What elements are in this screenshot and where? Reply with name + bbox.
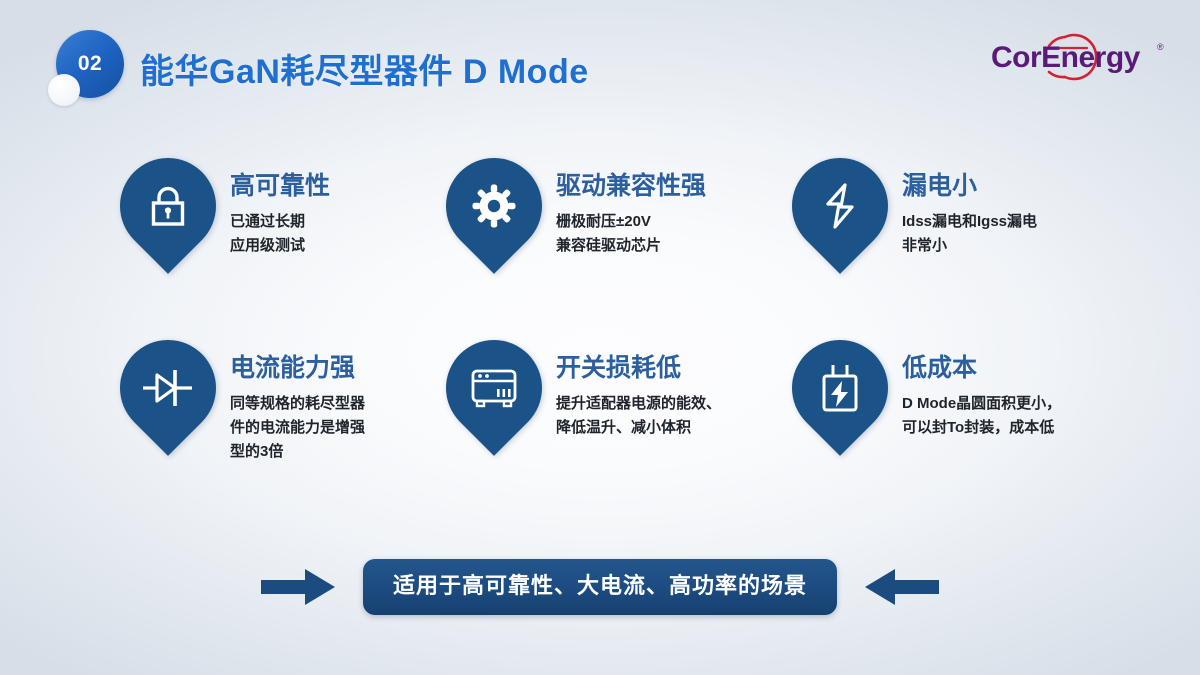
feature-item-current-capability[interactable]: 电流能力强 同等规格的耗尽型器 件的电流能力是增强 型的3倍	[120, 340, 450, 468]
feature-grid: 高可靠性 已通过长期 应用级测试	[120, 158, 1150, 518]
feature-item-low-cost[interactable]: 低成本 D Mode晶圆面积更小， 可以封To封装，成本低	[792, 340, 1122, 468]
summary-banner-text: 适用于高可靠性、大电流、高功率的场景	[393, 573, 807, 599]
feature-text: 驱动兼容性强 栅极耐压±20V 兼容硅驱动芯片	[556, 158, 706, 258]
feature-text: 高可靠性 已通过长期 应用级测试	[230, 158, 330, 258]
corenergy-logo: CorEnergy ®	[987, 28, 1172, 84]
feature-heading: 驱动兼容性强	[556, 172, 706, 201]
feature-pin	[792, 340, 888, 468]
feature-body: Idss漏电和Igss漏电 非常小	[902, 210, 1037, 259]
badge-number-label: 02	[78, 53, 102, 74]
feature-body: 提升适配器电源的能效、 降低温升、减小体积	[556, 392, 721, 441]
feature-body: 栅极耐压±20V 兼容硅驱动芯片	[556, 210, 706, 259]
feature-pin	[792, 158, 888, 286]
feature-item-drive-compatibility[interactable]: 驱动兼容性强 栅极耐压±20V 兼容硅驱动芯片	[446, 158, 776, 286]
section-number-badge: 02	[48, 30, 134, 108]
summary-banner[interactable]: 适用于高可靠性、大电流、高功率的场景	[363, 559, 837, 614]
feature-text: 开关损耗低 提升适配器电源的能效、 降低温升、减小体积	[556, 340, 721, 440]
gear-icon	[446, 158, 542, 254]
corenergy-logo-mark: CorEnergy ®	[987, 28, 1172, 84]
feature-text: 电流能力强 同等规格的耗尽型器 件的电流能力是增强 型的3倍	[230, 340, 365, 465]
lock-icon	[120, 158, 216, 254]
feature-heading: 电流能力强	[230, 354, 365, 383]
arrow-right-icon	[261, 569, 335, 605]
feature-heading: 低成本	[902, 354, 1061, 383]
feature-item-low-switching-loss[interactable]: 开关损耗低 提升适配器电源的能效、 降低温升、减小体积	[446, 340, 776, 468]
feature-text: 低成本 D Mode晶圆面积更小， 可以封To封装，成本低	[902, 340, 1061, 440]
feature-body: 同等规格的耗尽型器 件的电流能力是增强 型的3倍	[230, 392, 365, 465]
feature-item-reliability[interactable]: 高可靠性 已通过长期 应用级测试	[120, 158, 450, 286]
appliance-icon	[446, 340, 542, 436]
feature-pin	[446, 340, 542, 468]
feature-body: D Mode晶圆面积更小， 可以封To封装，成本低	[902, 392, 1061, 441]
logo-registered-mark: ®	[1157, 42, 1164, 52]
logo-wordmark: CorEnergy	[991, 41, 1141, 74]
power-plug-icon	[792, 340, 888, 436]
feature-pin	[120, 158, 216, 286]
feature-heading: 高可靠性	[230, 172, 330, 201]
lightning-bolt-icon	[792, 158, 888, 254]
arrow-left-icon	[865, 569, 939, 605]
summary-banner-row: 适用于高可靠性、大电流、高功率的场景	[0, 552, 1200, 622]
feature-pin	[120, 340, 216, 468]
feature-heading: 开关损耗低	[556, 354, 721, 383]
page-title: 能华GaN耗尽型器件 D Mode	[140, 44, 589, 93]
feature-item-low-leakage[interactable]: 漏电小 Idss漏电和Igss漏电 非常小	[792, 158, 1122, 286]
badge-accent-dot	[48, 74, 80, 106]
diode-icon	[120, 340, 216, 436]
feature-text: 漏电小 Idss漏电和Igss漏电 非常小	[902, 158, 1037, 258]
feature-body: 已通过长期 应用级测试	[230, 210, 330, 259]
slide-header: 02 能华GaN耗尽型器件 D Mode CorEnergy ®	[0, 0, 1200, 112]
feature-pin	[446, 158, 542, 286]
feature-heading: 漏电小	[902, 172, 1037, 201]
